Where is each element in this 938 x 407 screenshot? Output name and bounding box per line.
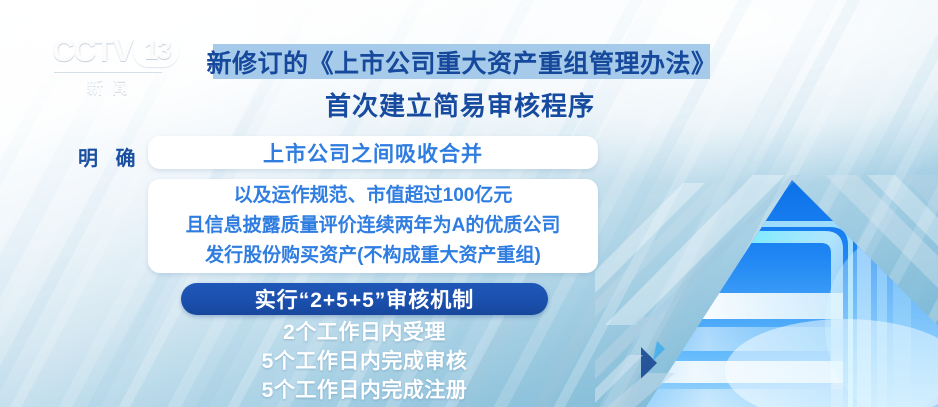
headline-subtitle: 首次建立简易审核程序	[0, 86, 938, 123]
headline-banner-text: 新修订的《上市公司重大资产重组管理办法》	[207, 44, 717, 80]
mechanism-step-1: 2个工作日内受理	[181, 318, 548, 347]
card-conditions-line-2: 且信息披露质量评价连续两年为A的优质公司	[186, 211, 561, 241]
mechanism-pill-text: 实行“2+5+5”审核机制	[255, 284, 475, 314]
card-conditions-line-1: 以及运作规范、市值超过100亿元	[234, 181, 513, 211]
logo-channel-text: CCTV	[52, 33, 132, 68]
broadcast-graphic-frame: CCTV13 新闻 新修订的《上市公司重大资产重组管理办法》 首次建立简易审核程…	[0, 0, 938, 407]
logo-channel-number: 13	[133, 36, 179, 67]
logo-underline	[54, 70, 162, 72]
card-merger: 上市公司之间吸收合并	[148, 136, 598, 169]
card-conditions-line-3: 发行股份购买资产(不构成重大资产重组)	[205, 241, 541, 271]
mechanism-pill: 实行“2+5+5”审核机制	[181, 283, 548, 315]
headline-subtitle-text: 首次建立简易审核程序	[325, 86, 595, 123]
card-merger-line-1: 上市公司之间吸收合并	[263, 138, 483, 168]
card-conditions: 以及运作规范、市值超过100亿元 且信息披露质量评价连续两年为A的优质公司 发行…	[148, 179, 598, 273]
mechanism-step-3: 5个工作日内完成注册	[181, 376, 548, 405]
section-label-mingque: 明 确	[78, 142, 142, 171]
mechanism-step-2: 5个工作日内完成审核	[181, 347, 548, 376]
abstract-diamond-chevron-graphic	[595, 175, 938, 407]
logo-channel-row: CCTV13	[52, 34, 192, 69]
mechanism-steps: 2个工作日内受理 5个工作日内完成审核 5个工作日内完成注册	[181, 318, 548, 405]
headline-banner: 新修订的《上市公司重大资产重组管理办法》	[213, 44, 710, 79]
